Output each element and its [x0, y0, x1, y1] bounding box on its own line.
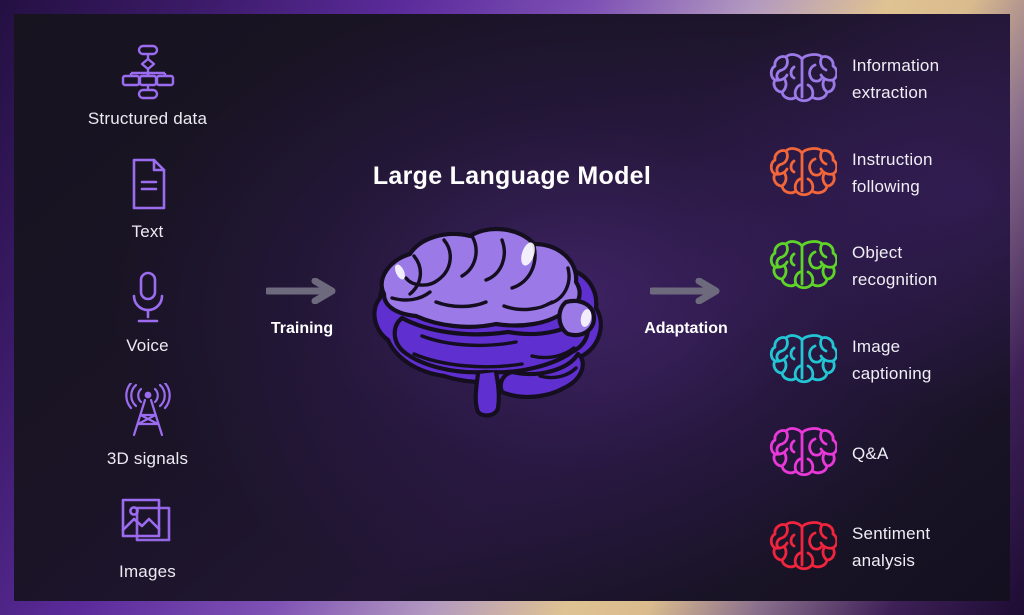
microphone-icon — [124, 269, 172, 327]
input-item-images: Images — [119, 495, 177, 582]
capability-item-instruction-following: Instruction following — [766, 142, 1010, 204]
capability-label: Image captioning — [852, 333, 932, 387]
brain-outline-icon — [766, 425, 838, 481]
hierarchy-icon — [119, 42, 177, 100]
flow-step-training: Training — [254, 278, 350, 338]
capability-item-object-recognition: Object recognition — [766, 235, 1010, 297]
photo-stack-icon — [119, 495, 177, 553]
input-label: Text — [132, 222, 164, 242]
capability-label: Q&A — [852, 440, 889, 467]
brain-outline-icon — [766, 519, 838, 575]
input-item-structured-data: Structured data — [88, 42, 207, 129]
signal-tower-icon — [117, 382, 179, 440]
brain-illustration — [362, 206, 622, 421]
brain-outline-icon — [766, 238, 838, 294]
input-label: Voice — [126, 336, 169, 356]
brain-outline-icon — [766, 51, 838, 107]
input-label: Images — [119, 562, 176, 582]
input-item-voice: Voice — [124, 269, 172, 356]
arrow-right-icon — [266, 278, 338, 304]
flow-label: Training — [271, 320, 333, 338]
capability-label: Information extraction — [852, 52, 939, 106]
flow-step-adaptation: Adaptation — [622, 278, 750, 338]
input-label: 3D signals — [107, 449, 188, 469]
brain-outline-icon — [766, 145, 838, 201]
capability-item-image-captioning: Image captioning — [766, 329, 1010, 391]
input-item-3d-signals: 3D signals — [107, 382, 188, 469]
capability-item-information-extraction: Information extraction — [766, 48, 1010, 110]
arrow-right-icon — [650, 278, 722, 304]
capability-label: Sentiment analysis — [852, 520, 930, 574]
capabilities-column: Information extraction — [766, 48, 1010, 578]
capability-item-qa: Q&A — [766, 422, 1010, 484]
input-modalities-column: Structured data Text Voic — [50, 42, 245, 582]
brain-outline-icon — [766, 332, 838, 388]
input-label: Structured data — [88, 109, 207, 129]
infographic-stage: Structured data Text Voic — [14, 14, 1010, 601]
capability-label: Object recognition — [852, 239, 937, 293]
flow-label: Adaptation — [644, 320, 728, 338]
capability-label: Instruction following — [852, 146, 933, 200]
capability-item-sentiment-analysis: Sentiment analysis — [766, 516, 1010, 578]
